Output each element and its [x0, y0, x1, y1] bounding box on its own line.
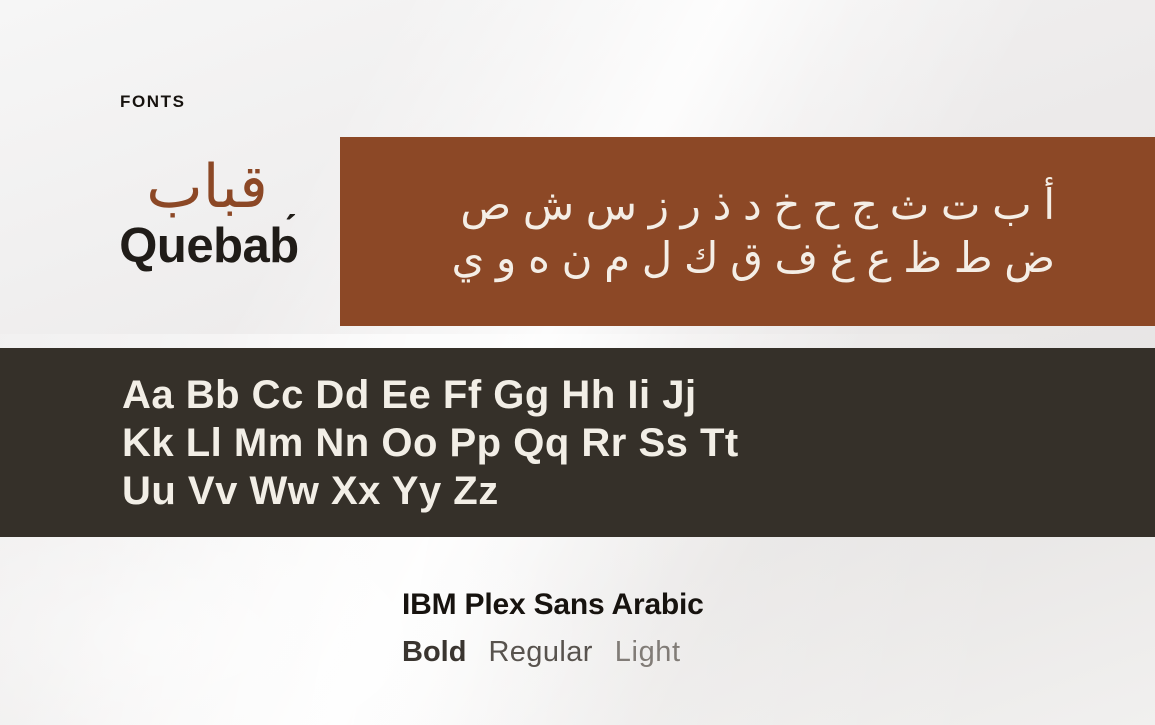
typeface-weight-light: Light [615, 636, 681, 669]
arabic-specimen-block: أ ب ت ث ج ح خ د ذ ر ز س ش ص ض ط ظ ع غ ف … [340, 137, 1155, 326]
typeface-name: IBM Plex Sans Arabic [402, 588, 1102, 621]
latin-specimen-band: Aa Bb Cc Dd Ee Ff Gg Hh Ii Jj Kk Ll Mm N… [0, 348, 1155, 537]
latin-specimen-row: Kk Ll Mm Nn Oo Pp Qq Rr Ss Tt [122, 419, 1155, 467]
arabic-specimen-row: ض ط ظ ع غ ف ق ك ل م ن ه و ي [451, 232, 1055, 285]
logo-arabic-wordmark: قباب [92, 162, 322, 211]
typeface-weight-bold: Bold [402, 636, 466, 669]
latin-specimen-row: Aa Bb Cc Dd Ee Ff Gg Hh Ii Jj [122, 371, 1155, 419]
latin-specimen-row: Uu Vv Ww Xx Yy Zz [122, 467, 1155, 515]
typeface-weight-regular: Regular [488, 636, 592, 669]
typeface-info: IBM Plex Sans Arabic Bold Regular Light [402, 588, 1102, 669]
arabic-specimen-row: أ ب ت ث ج ح خ د ذ ر ز س ش ص [460, 179, 1055, 232]
brand-logo-lockup: قباب Quebab́ [92, 162, 322, 271]
logo-latin-text: Quebab [119, 219, 298, 273]
slide-canvas: FONTS قباب Quebab́ أ ب ت ث ج ح خ د ذ ر ز… [0, 0, 1155, 725]
section-label-fonts: FONTS [120, 92, 186, 112]
typeface-weight-list: Bold Regular Light [402, 636, 1102, 669]
logo-latin-wordmark: Quebab́ [92, 217, 322, 271]
